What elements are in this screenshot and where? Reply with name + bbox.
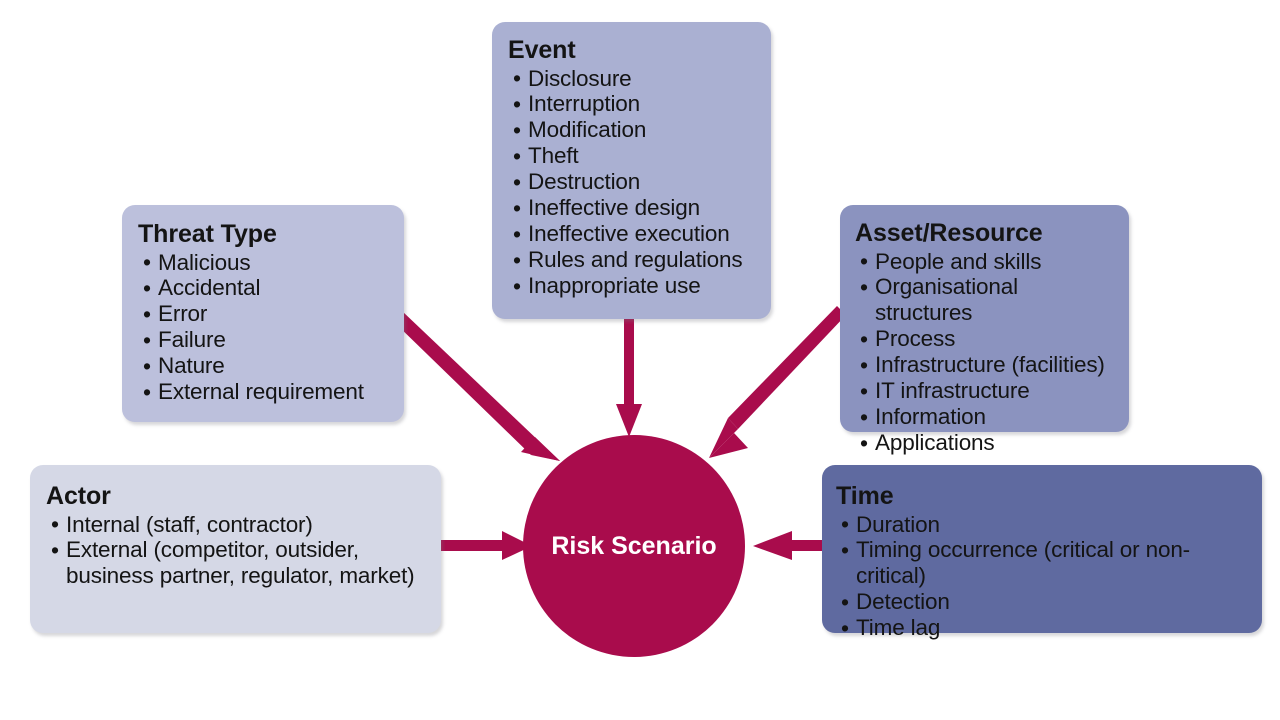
arrow-event-to-risk — [616, 316, 642, 437]
list-item: Disclosure — [512, 66, 759, 92]
list-item: People and skills — [859, 249, 1119, 275]
list-item: Timing occurrence (critical or non-criti… — [840, 537, 1252, 589]
risk-scenario-circle: Risk Scenario — [523, 435, 745, 657]
list-item-text: External (competitor, outsider, — [66, 537, 359, 562]
list-item: Theft — [512, 143, 759, 169]
list-item: Process — [859, 326, 1119, 352]
list-item: Modification — [512, 117, 759, 143]
arrow-asset-to-risk — [709, 306, 846, 458]
list-item: Organisational structures — [859, 274, 1119, 326]
actor-list: Internal (staff, contractor) External (c… — [50, 512, 429, 590]
time-title: Time — [836, 483, 1252, 510]
list-item-continuation: business partner, regulator, market) — [66, 563, 429, 589]
list-item: Time lag — [840, 615, 1252, 641]
list-item: External requirement — [142, 379, 390, 405]
list-item: Duration — [840, 512, 1252, 538]
asset-resource-list: People and skills Organisational structu… — [859, 249, 1119, 457]
list-item: Malicious — [142, 250, 390, 276]
box-event: Event Disclosure Interruption Modificati… — [492, 22, 771, 319]
list-item: Internal (staff, contractor) — [50, 512, 429, 538]
risk-scenario-diagram: Threat Type Malicious Accidental Error F… — [0, 0, 1280, 720]
box-threat-type: Threat Type Malicious Accidental Error F… — [122, 205, 404, 422]
asset-resource-title: Asset/Resource — [855, 220, 1119, 247]
list-item: Failure — [142, 327, 390, 353]
list-item: Destruction — [512, 169, 759, 195]
list-item: Applications — [859, 430, 1119, 456]
list-item: Information — [859, 404, 1119, 430]
arrow-threat-type-to-risk — [394, 311, 560, 461]
threat-type-title: Threat Type — [138, 221, 390, 248]
risk-scenario-label: Risk Scenario — [551, 532, 716, 561]
list-item: Detection — [840, 589, 1252, 615]
list-item: Error — [142, 301, 390, 327]
threat-type-list: Malicious Accidental Error Failure Natur… — [142, 250, 390, 406]
list-item: Interruption — [512, 91, 759, 117]
actor-title: Actor — [46, 483, 429, 510]
list-item: Inappropriate use — [512, 273, 759, 299]
event-title: Event — [508, 37, 759, 64]
list-item: Ineffective execution — [512, 221, 759, 247]
list-item: Rules and regulations — [512, 247, 759, 273]
box-asset-resource: Asset/Resource People and skills Organis… — [840, 205, 1129, 432]
box-time: Time Duration Timing occurrence (critica… — [822, 465, 1262, 633]
arrow-time-to-risk — [753, 531, 822, 560]
list-item: Accidental — [142, 275, 390, 301]
event-list: Disclosure Interruption Modification The… — [512, 66, 759, 300]
list-item: External (competitor, outsider, business… — [50, 537, 429, 589]
arrow-actor-to-risk — [441, 531, 532, 560]
time-list: Duration Timing occurrence (critical or … — [840, 512, 1252, 642]
list-item: Nature — [142, 353, 390, 379]
list-item: Ineffective design — [512, 195, 759, 221]
list-item: IT infrastructure — [859, 378, 1119, 404]
box-actor: Actor Internal (staff, contractor) Exter… — [30, 465, 441, 633]
list-item: Infrastructure (facilities) — [859, 352, 1119, 378]
